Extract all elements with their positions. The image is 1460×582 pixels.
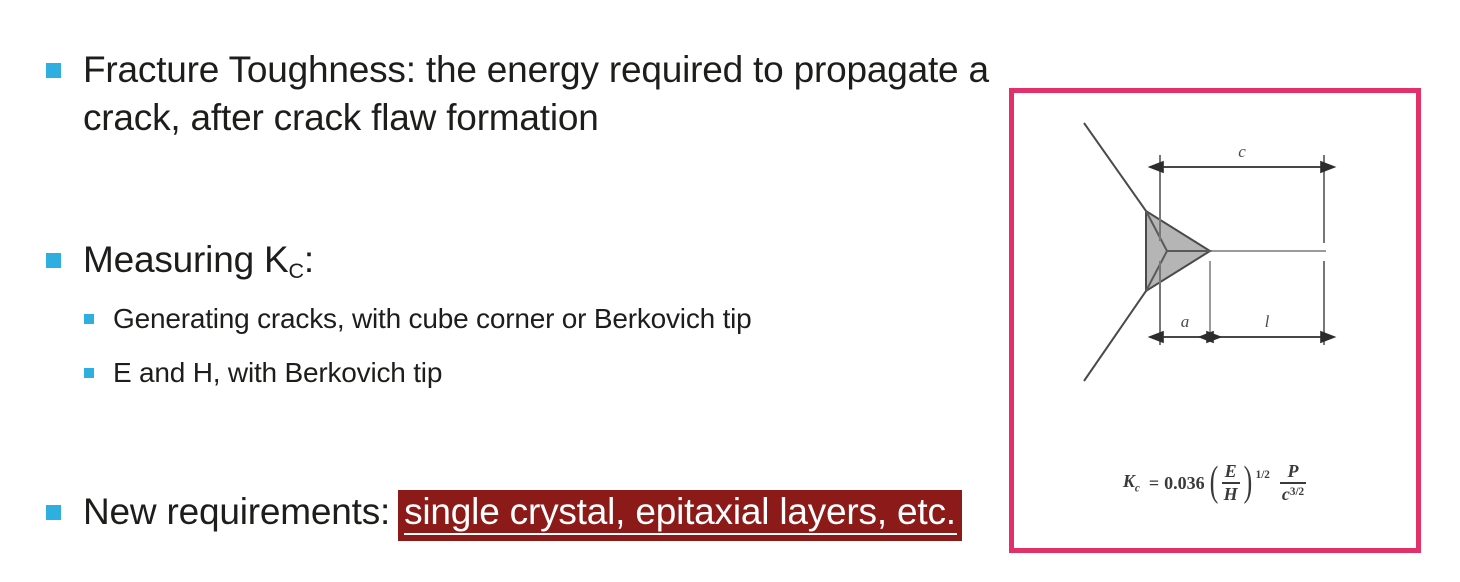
bullet-text-fracture-toughness: Fracture Toughness: the energy required … xyxy=(83,46,1026,142)
dimension-label-l: l xyxy=(1265,312,1270,331)
crack-diagram-svg: c a l xyxy=(1014,93,1416,423)
formula-paren-close: ) xyxy=(1243,465,1252,501)
square-bullet-icon xyxy=(46,505,61,520)
highlight-underline-rule xyxy=(404,533,957,535)
formula-modulus-hardness-ratio: E H xyxy=(1222,462,1240,503)
sub-bullet-text-generating-cracks: Generating cracks, with cube corner or B… xyxy=(113,300,752,338)
bullet-item-fracture-toughness: Fracture Toughness: the energy required … xyxy=(46,46,1026,142)
formula-paren-open: ( xyxy=(1209,465,1218,501)
formula-expression: Kc = 0.036 ( E H ) 1/2 P c3/2 xyxy=(1123,462,1307,503)
measuring-suffix: : xyxy=(304,239,314,280)
formula-lhs-symbol: K xyxy=(1123,471,1135,491)
formula-crack-symbol: c xyxy=(1282,484,1290,504)
formula-ratio-exponent: 1/2 xyxy=(1256,469,1270,481)
formula-ratio-numerator: E xyxy=(1223,462,1239,481)
highlight-label: single crystal, epitaxial layers, etc. xyxy=(404,491,956,532)
formula-lhs: Kc xyxy=(1123,471,1140,495)
highlighted-requirements-text: single crystal, epitaxial layers, etc. xyxy=(398,490,962,541)
formula-crack-exponent: 3/2 xyxy=(1290,486,1304,498)
sub-bullet-text-e-and-h: E and H, with Berkovich tip xyxy=(113,354,442,392)
bullet-text-new-requirements: New requirements: single crystal, epitax… xyxy=(83,488,962,541)
lower-crack-line xyxy=(1084,291,1146,381)
square-bullet-icon xyxy=(46,63,61,78)
formula-crack-term: c3/2 xyxy=(1280,485,1306,504)
square-sub-bullet-icon xyxy=(84,368,94,378)
bullet-item-new-requirements: New requirements: single crystal, epitax… xyxy=(46,488,1006,541)
formula-ratio-group: ( E H ) 1/2 xyxy=(1207,462,1270,503)
upper-crack-line xyxy=(1084,123,1146,211)
formula-load-crack-fraction: P c3/2 xyxy=(1280,462,1306,503)
square-bullet-icon xyxy=(46,253,61,268)
formula-ratio-denominator: H xyxy=(1222,485,1240,504)
new-requirements-label: New requirements: xyxy=(83,488,390,536)
formula-coefficient: 0.036 xyxy=(1164,473,1205,494)
measuring-prefix: Measuring K xyxy=(83,239,289,280)
bullet-item-measuring-kc: Measuring KC: xyxy=(46,236,746,289)
kc-subscript: C xyxy=(289,259,304,283)
indentation-crack-diagram: c a l xyxy=(1014,93,1416,423)
sub-bullet-item-generating-cracks: Generating cracks, with cube corner or B… xyxy=(84,300,964,338)
formula-equals: = xyxy=(1149,473,1159,494)
fracture-toughness-formula: Kc = 0.036 ( E H ) 1/2 P c3/2 xyxy=(1014,423,1416,543)
dimension-label-c: c xyxy=(1238,142,1246,161)
figure-panel: c a l Kc = 0.036 ( E H xyxy=(1009,88,1421,553)
bullet-text-measuring-kc: Measuring KC: xyxy=(83,236,314,289)
sub-bullet-item-e-and-h: E and H, with Berkovich tip xyxy=(84,354,964,392)
dimension-label-a: a xyxy=(1181,312,1190,331)
slide-canvas: Fracture Toughness: the energy required … xyxy=(0,0,1460,582)
formula-lhs-subscript: c xyxy=(1135,483,1140,495)
bullet-content-column: Fracture Toughness: the energy required … xyxy=(0,0,1005,582)
square-sub-bullet-icon xyxy=(84,314,94,324)
formula-load-symbol: P xyxy=(1286,462,1301,481)
